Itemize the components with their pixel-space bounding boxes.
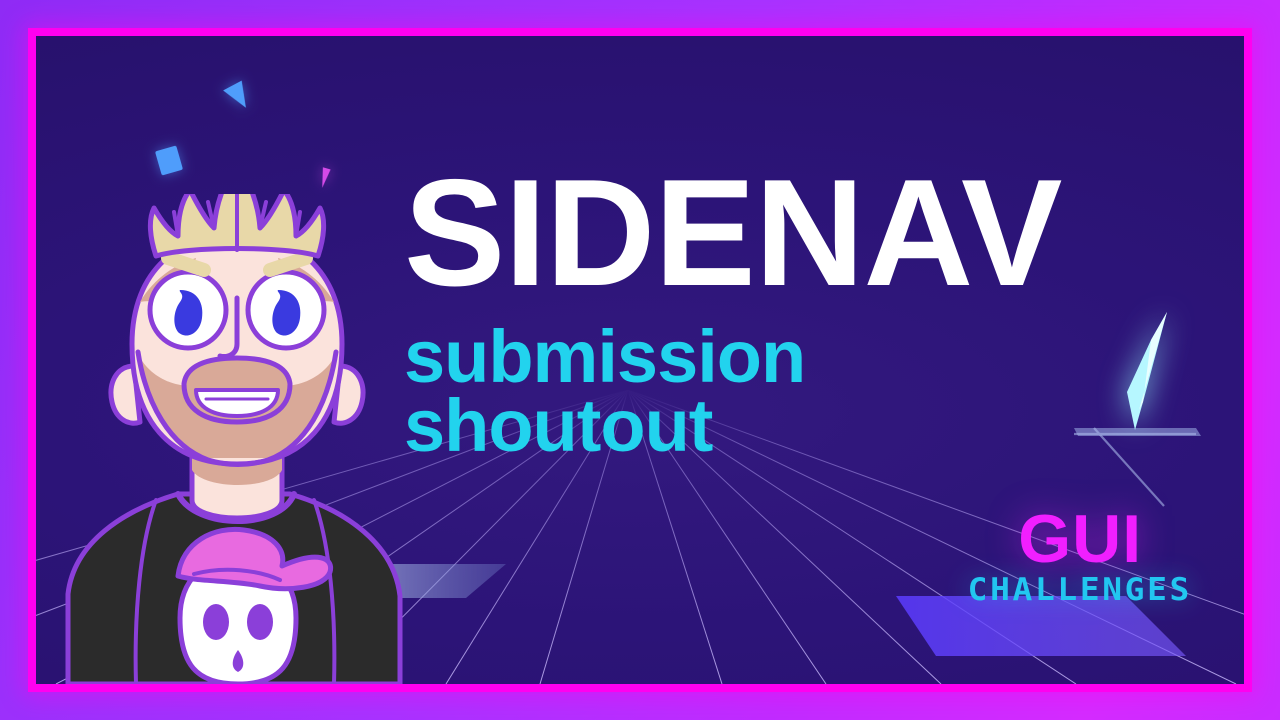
logo-secondary-text: CHALLENGES bbox=[968, 575, 1192, 606]
headline-block: SIDENAV submission shoutout bbox=[404, 164, 1194, 461]
avatar-mouth bbox=[196, 390, 278, 416]
gui-challenges-logo: GUI CHALLENGES bbox=[974, 508, 1186, 606]
logo-primary-text: GUI bbox=[974, 508, 1186, 571]
shirt-logo-eye-left bbox=[203, 604, 229, 640]
page-title: SIDENAV bbox=[404, 164, 1194, 304]
neon-frame-border: SIDENAV submission shoutout GUI CHALLENG… bbox=[28, 28, 1252, 692]
shirt-logo-eye-right bbox=[247, 604, 273, 640]
host-avatar bbox=[36, 194, 448, 684]
subtitle-line-1: submission bbox=[404, 322, 1194, 392]
page-subtitle: submission shoutout bbox=[404, 322, 1194, 461]
subtitle-line-2: shoutout bbox=[404, 391, 1194, 461]
slide-canvas: SIDENAV submission shoutout GUI CHALLENG… bbox=[0, 0, 1280, 720]
scene-background: SIDENAV submission shoutout GUI CHALLENG… bbox=[36, 36, 1244, 684]
